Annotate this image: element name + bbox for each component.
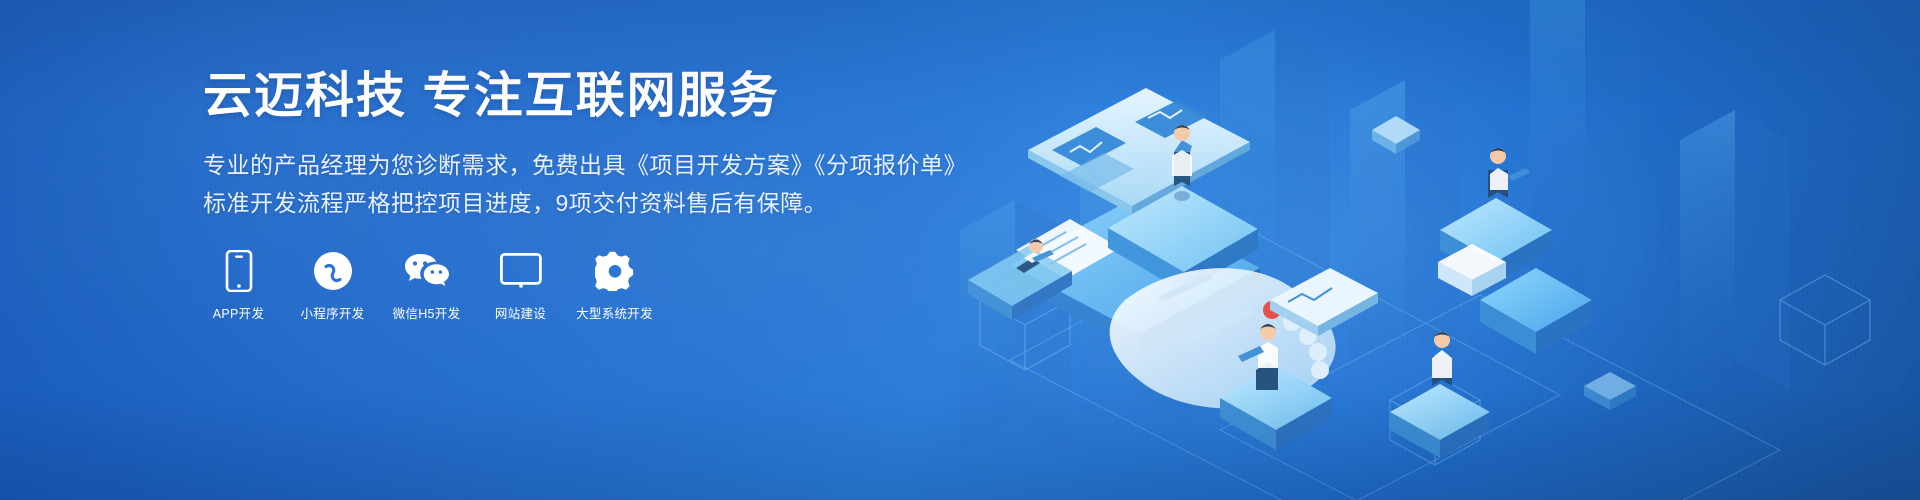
service-item-miniprogram[interactable]: 小程序开发	[297, 250, 368, 322]
service-label: 网站建设	[495, 303, 546, 322]
service-item-app[interactable]: APP开发	[203, 250, 274, 322]
service-label: 小程序开发	[300, 303, 364, 322]
hero-banner: 云迈科技 专注互联网服务 专业的产品经理为您诊断需求，免费出具《项目开发方案》《…	[0, 0, 1920, 500]
service-label: 微信H5开发	[393, 303, 461, 322]
gear-icon	[595, 250, 635, 292]
banner-subtitle: 专业的产品经理为您诊断需求，免费出具《项目开发方案》《分项报价单》 标准开发流程…	[203, 147, 963, 222]
banner-content: 云迈科技 专注互联网服务 专业的产品经理为您诊断需求，免费出具《项目开发方案》《…	[203, 66, 963, 322]
phone-icon	[225, 250, 253, 292]
isometric-illustration	[920, 0, 1920, 500]
subtitle-line-2: 标准开发流程严格把控项目进度，9项交付资料售后有保障。	[203, 185, 963, 222]
wechat-icon	[404, 250, 450, 292]
miniprogram-icon	[313, 250, 353, 292]
service-label: 大型系统开发	[576, 303, 653, 322]
service-item-wechat-h5[interactable]: 微信H5开发	[391, 250, 462, 322]
subtitle-line-1: 专业的产品经理为您诊断需求，免费出具《项目开发方案》《分项报价单》	[203, 147, 963, 184]
service-item-large-system[interactable]: 大型系统开发	[579, 250, 650, 322]
monitor-icon	[500, 250, 542, 292]
service-list: APP开发 小程序开发	[203, 250, 963, 322]
page-title: 云迈科技 专注互联网服务	[203, 66, 963, 127]
service-label: APP开发	[213, 303, 265, 322]
service-item-website[interactable]: 网站建设	[485, 250, 556, 322]
